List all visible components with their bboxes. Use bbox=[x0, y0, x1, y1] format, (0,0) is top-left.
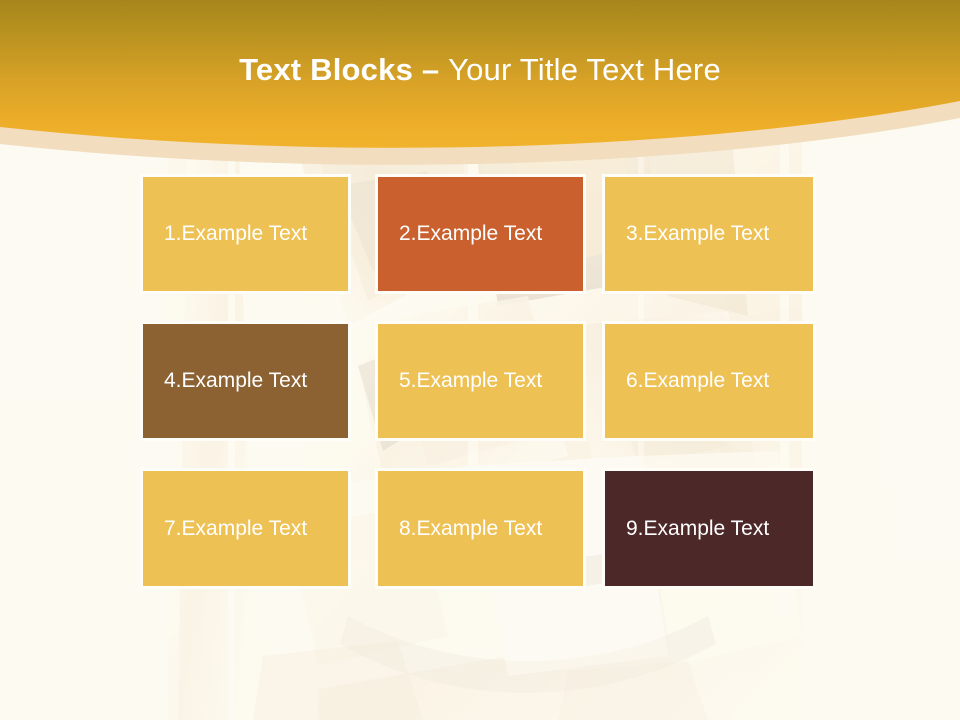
text-block-3[interactable]: 3.Example Text bbox=[602, 174, 816, 294]
text-block-2[interactable]: 2.Example Text bbox=[375, 174, 586, 294]
text-block-label: 2.Example Text bbox=[399, 221, 542, 247]
text-block-label: 9.Example Text bbox=[626, 516, 769, 542]
text-block-4[interactable]: 4.Example Text bbox=[140, 321, 351, 441]
text-block-7[interactable]: 7.Example Text bbox=[140, 468, 351, 589]
text-block-label: 5.Example Text bbox=[399, 368, 542, 394]
text-block-label: 7.Example Text bbox=[164, 516, 307, 542]
page-title: Text Blocks – Your Title Text Here bbox=[0, 50, 960, 90]
text-block-label: 4.Example Text bbox=[164, 368, 307, 394]
text-block-5[interactable]: 5.Example Text bbox=[375, 321, 586, 441]
text-block-label: 1.Example Text bbox=[164, 221, 307, 247]
text-block-9[interactable]: 9.Example Text bbox=[602, 468, 816, 589]
text-block-8[interactable]: 8.Example Text bbox=[375, 468, 586, 589]
text-block-label: 8.Example Text bbox=[399, 516, 542, 542]
text-block-6[interactable]: 6.Example Text bbox=[602, 321, 816, 441]
text-block-1[interactable]: 1.Example Text bbox=[140, 174, 351, 294]
slide-canvas: Text Blocks – Your Title Text Here 1.Exa… bbox=[0, 0, 960, 720]
text-block-label: 6.Example Text bbox=[626, 368, 769, 394]
page-title-bold: Text Blocks – bbox=[239, 52, 448, 87]
text-blocks-grid: 1.Example Text 2.Example Text 3.Example … bbox=[140, 174, 816, 589]
text-block-label: 3.Example Text bbox=[626, 221, 769, 247]
page-title-regular: Your Title Text Here bbox=[448, 52, 721, 87]
